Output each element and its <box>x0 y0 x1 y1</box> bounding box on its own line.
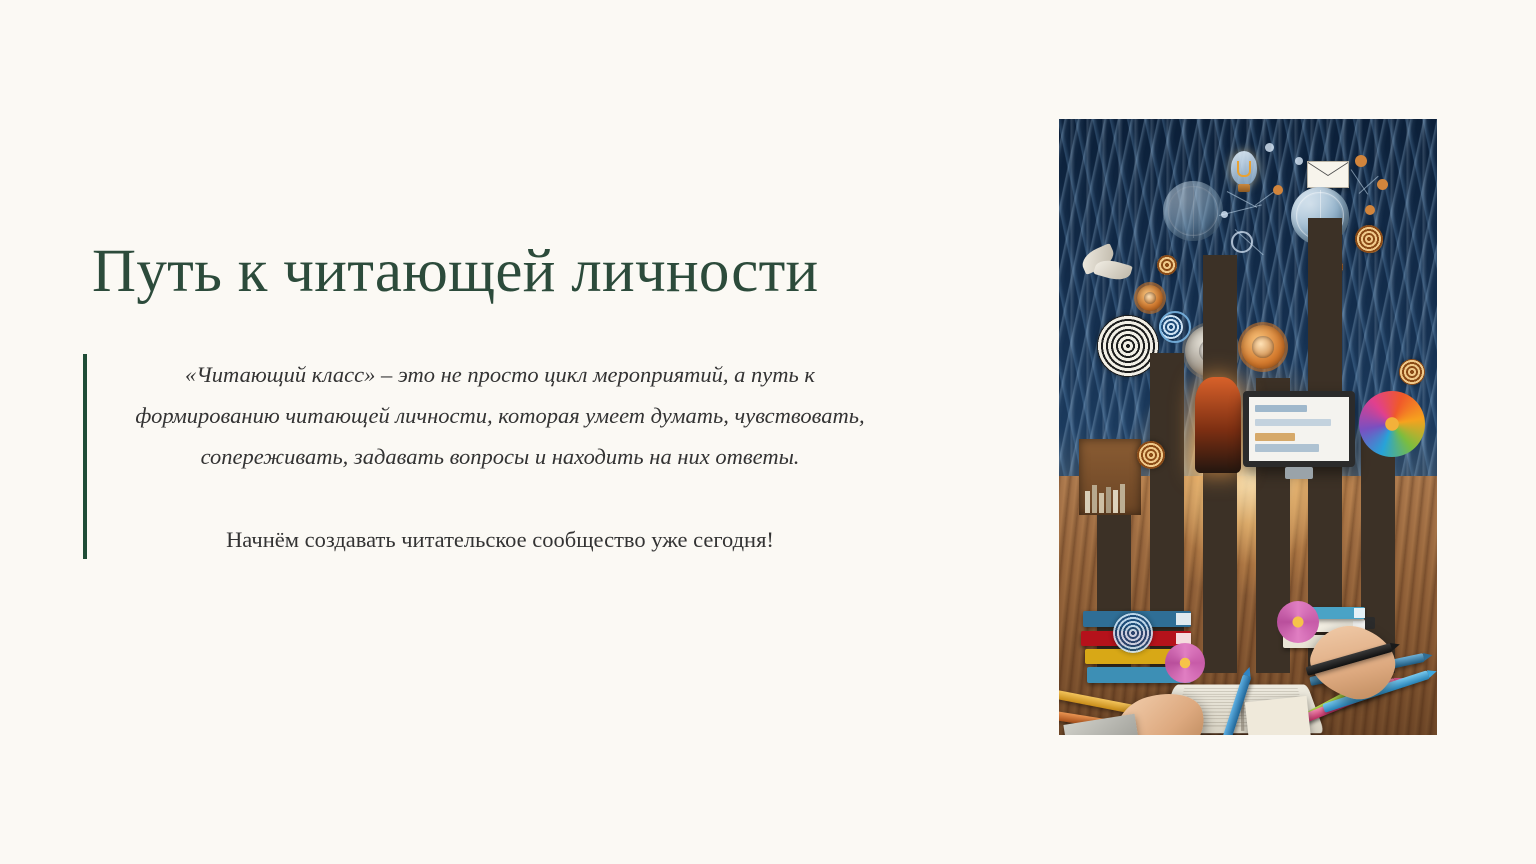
network-node <box>1221 211 1228 218</box>
screen-content-row <box>1255 433 1295 441</box>
dove-icon <box>1081 247 1135 287</box>
quote-block: «Читающий класс» – это не просто цикл ме… <box>83 354 883 477</box>
screen-content-row <box>1255 419 1331 427</box>
circle-icon <box>1231 231 1253 253</box>
shelf-book <box>1113 490 1118 513</box>
presentation-slide: Путь к читающей личности «Читающий класс… <box>0 0 1536 864</box>
shelf-book <box>1106 487 1111 513</box>
flower-icon <box>1359 391 1425 457</box>
bookshelf <box>1079 439 1141 515</box>
shelf-book <box>1085 491 1090 513</box>
network-node <box>1273 185 1283 195</box>
network-node <box>1265 143 1274 152</box>
illustration-image <box>1059 119 1437 735</box>
network-node <box>1355 155 1367 167</box>
globe-stand <box>1365 617 1375 629</box>
gear-icon <box>1137 285 1163 311</box>
monitor-stand <box>1285 467 1313 479</box>
flower-icon <box>1165 643 1205 683</box>
shelf-book <box>1092 485 1097 513</box>
spiral-icon <box>1399 359 1425 385</box>
monitor-screen <box>1243 391 1355 467</box>
person-silhouette <box>1195 377 1241 473</box>
spiral-icon <box>1157 255 1177 275</box>
shelf-book <box>1099 493 1104 513</box>
shelf-book <box>1120 484 1125 513</box>
spiral-icon <box>1355 225 1383 253</box>
spiral-icon <box>1137 441 1165 469</box>
quote-text: «Читающий класс» – это не просто цикл ме… <box>130 354 870 477</box>
network-node <box>1365 205 1375 215</box>
accent-bar <box>83 354 87 559</box>
flower-icon <box>1277 601 1319 643</box>
content-column: Путь к читающей личности «Читающий класс… <box>83 238 883 556</box>
sketch-paper <box>1245 696 1311 735</box>
envelope-icon <box>1307 161 1349 188</box>
lightbulb-icon <box>1231 151 1257 185</box>
network-node <box>1295 157 1303 165</box>
circle-icon <box>1159 311 1191 343</box>
screen-content-row <box>1255 405 1307 413</box>
spiral-icon <box>1113 613 1153 653</box>
gear-icon <box>1241 325 1285 369</box>
screen-content-row <box>1255 444 1319 452</box>
page-title: Путь к читающей личности <box>92 238 883 305</box>
closing-call-to-action: Начнём создавать читательское сообщество… <box>130 524 870 556</box>
network-node <box>1377 179 1388 190</box>
sphere-icon <box>1163 181 1223 241</box>
